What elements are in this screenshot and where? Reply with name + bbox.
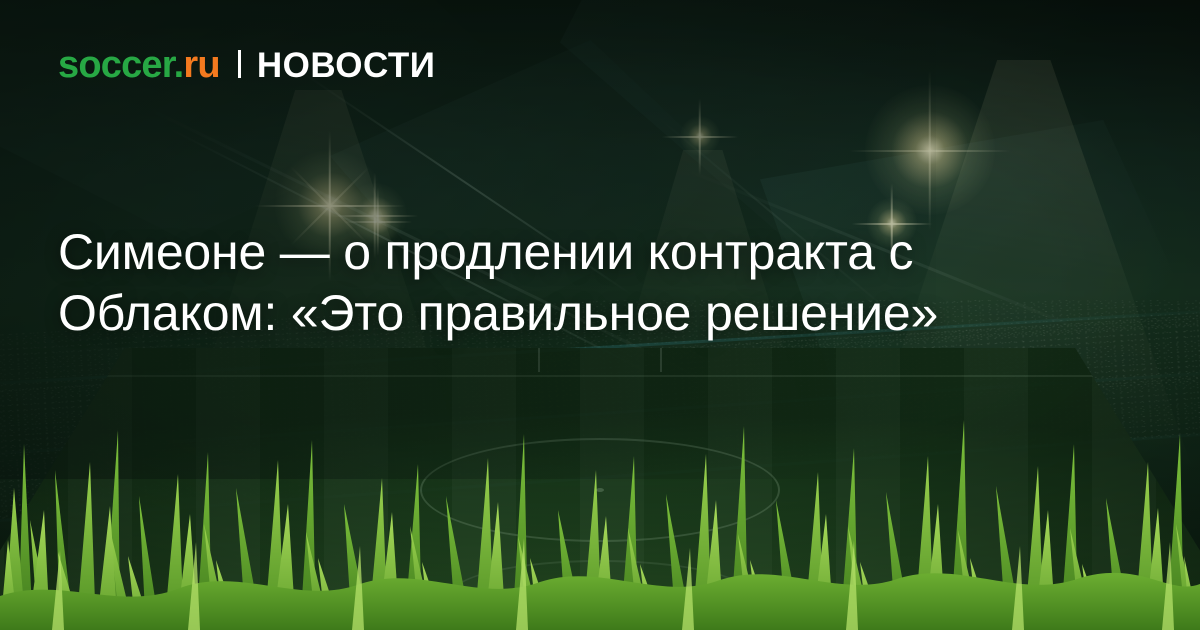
site-header: soccer.ru НОВОСТИ xyxy=(58,46,435,84)
logo-tld-text: ru xyxy=(183,44,219,86)
logo-brand-text: soccer xyxy=(58,44,174,86)
logo-dot: . xyxy=(174,44,184,86)
page-title: Симеоне — о продлении контракта с Облако… xyxy=(58,222,1143,344)
og-card: soccer.ru НОВОСТИ Симеоне — о продлении … xyxy=(0,0,1200,630)
soccer-ru-logo[interactable]: soccer.ru xyxy=(58,46,220,84)
header-separator xyxy=(238,50,241,78)
section-label: НОВОСТИ xyxy=(257,48,436,83)
